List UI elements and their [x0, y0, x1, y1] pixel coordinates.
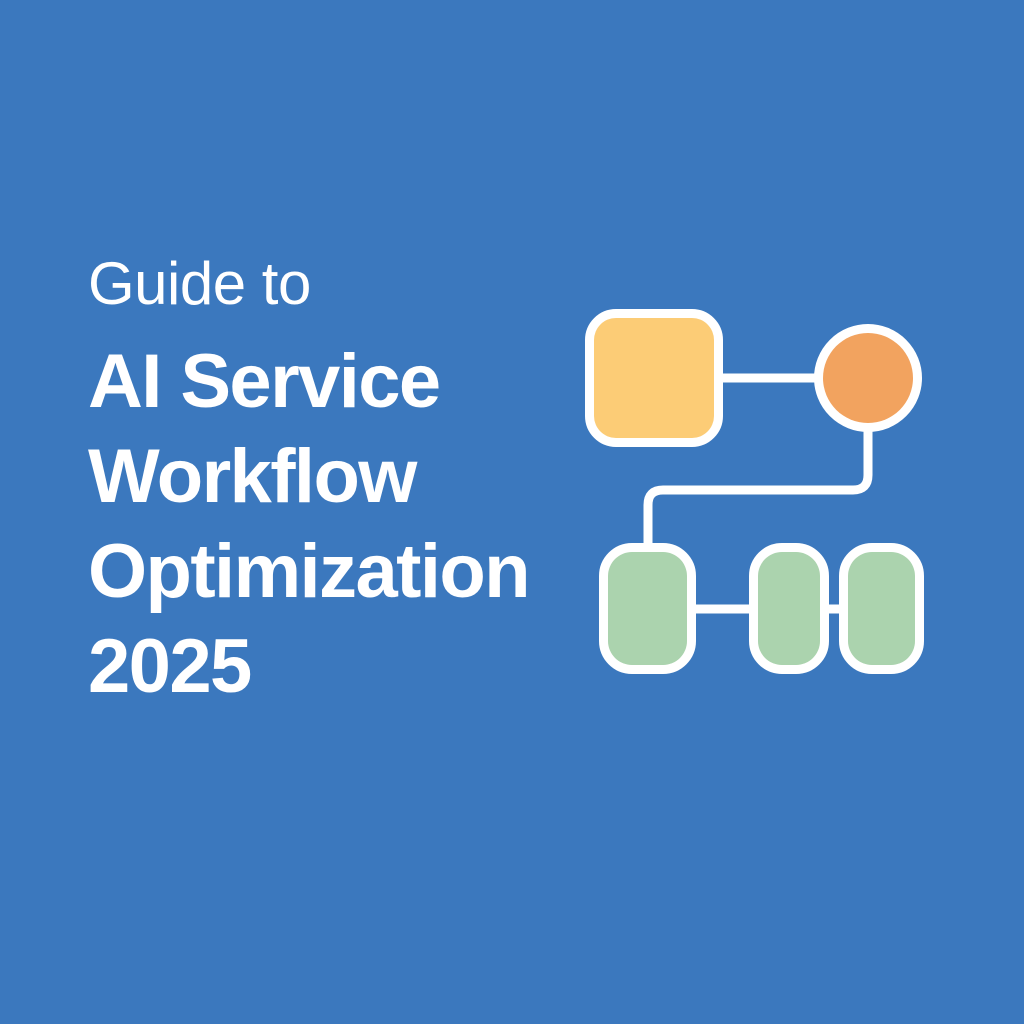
page-title: AI Service Workflow Optimization 2025: [88, 334, 648, 714]
workflow-diagram-svg: [575, 300, 935, 680]
headline-line-2: Workflow: [88, 429, 648, 524]
node-task-green-3[interactable]: [848, 552, 915, 665]
workflow-diagram: [575, 300, 935, 680]
node-process-yellow[interactable]: [594, 318, 714, 438]
cover-canvas: Guide to AI Service Workflow Optimizatio…: [0, 0, 1024, 1024]
node-task-green-1[interactable]: [608, 552, 687, 665]
node-task-green-2[interactable]: [758, 552, 820, 665]
headline-line-4: 2025: [88, 619, 648, 714]
headline-line-1: AI Service: [88, 334, 648, 429]
eyebrow-text: Guide to: [88, 248, 648, 320]
node-decision-orange[interactable]: [823, 333, 913, 423]
headline-line-3: Optimization: [88, 524, 648, 619]
title-block: Guide to AI Service Workflow Optimizatio…: [88, 248, 648, 714]
